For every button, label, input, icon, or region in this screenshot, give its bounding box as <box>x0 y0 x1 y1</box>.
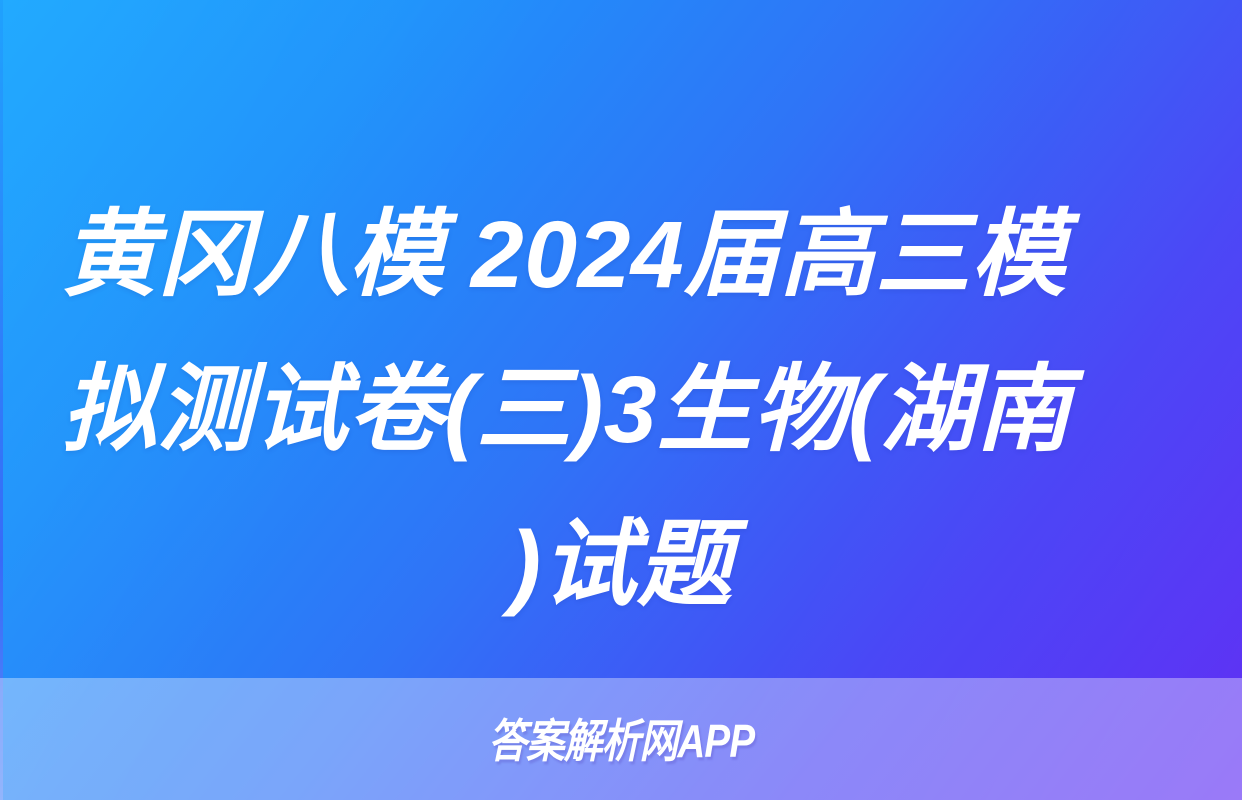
exam-cover-card: 黄冈八模 2024届高三模 拟测试卷(三)3生物(湖南 )试题 答案解析网APP <box>0 0 1242 800</box>
title-line-3: )试题 <box>62 488 1180 643</box>
footer-watermark-band: 答案解析网APP <box>0 678 1242 800</box>
title-block: 黄冈八模 2024届高三模 拟测试卷(三)3生物(湖南 )试题 <box>0 178 1242 638</box>
title-line-1: 黄冈八模 2024届高三模 <box>62 178 1180 333</box>
title-line-2: 拟测试卷(三)3生物(湖南 <box>62 333 1180 488</box>
app-watermark-label: 答案解析网APP <box>488 718 754 764</box>
